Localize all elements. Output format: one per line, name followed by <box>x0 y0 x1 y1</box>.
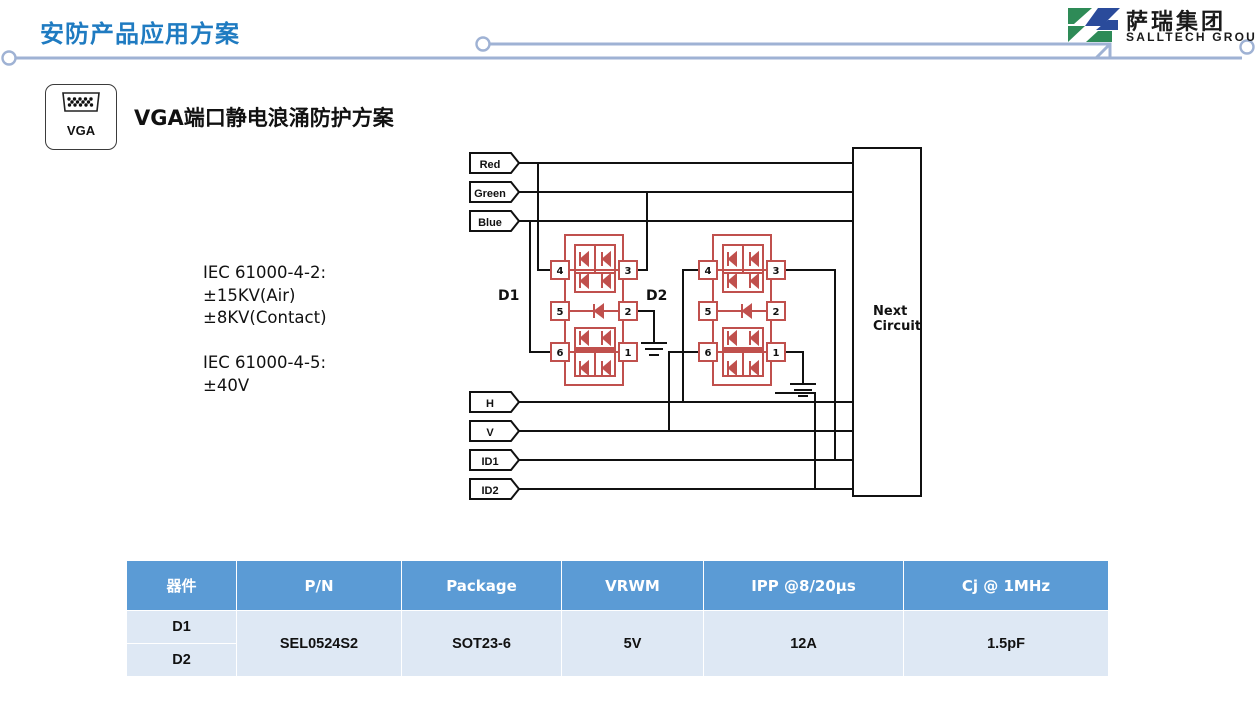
device-ref-label: D1 <box>498 288 519 304</box>
cell-pn: SEL0524S2 <box>237 611 402 677</box>
signal-label: Red <box>480 159 501 171</box>
signal-tag-h: H <box>470 392 519 412</box>
pin-label: 2 <box>625 307 632 318</box>
pin-label: 4 <box>705 266 712 277</box>
signal-tag-red: Red <box>470 153 519 173</box>
salltech-logo-mark <box>1068 8 1120 42</box>
pin-label: 6 <box>557 348 564 359</box>
pin-label: 2 <box>773 307 780 318</box>
pin-label: 3 <box>773 266 780 277</box>
signal-label: Blue <box>478 217 502 229</box>
pin-label: 5 <box>705 307 712 318</box>
signal-label: ID1 <box>481 456 498 468</box>
signal-tag-v: V <box>470 421 519 441</box>
next-circuit-label-2: Circuit <box>873 319 921 334</box>
signal-tag-id1: ID1 <box>470 450 519 470</box>
cell-package: SOT23-6 <box>402 611 562 677</box>
cell-cj: 1.5pF <box>904 611 1109 677</box>
logo-brand-en: SALLTECH GROUP <box>1126 30 1256 44</box>
device-spec-table: 器件 P/N Package VRWM IPP @8/20μs Cj @ 1MH… <box>126 560 1109 677</box>
signal-label: Green <box>474 188 506 200</box>
device-d2: D2 <box>646 235 785 385</box>
signal-label: V <box>486 427 494 439</box>
pin-label: 3 <box>625 266 632 277</box>
signal-tag-blue: Blue <box>470 211 519 231</box>
column-header-ipp: IPP @8/20μs <box>704 561 904 611</box>
signal-tags-top: Red Green Blue <box>470 153 519 231</box>
signal-label: H <box>486 398 494 410</box>
column-header-pn: P/N <box>237 561 402 611</box>
device-d1: D1 <box>498 235 637 385</box>
signal-label: ID2 <box>481 485 498 497</box>
brand-logo: 萨瑞集团 SALLTECH GROUP <box>1068 6 1254 50</box>
vga-connector-badge: VGA <box>45 84 117 150</box>
cell-device-d1: D1 <box>127 611 237 644</box>
signal-tag-green: Green <box>470 182 519 202</box>
cell-device-d2: D2 <box>127 644 237 677</box>
column-header-device: 器件 <box>127 561 237 611</box>
signal-tags-bottom: H V ID1 ID2 <box>470 392 519 499</box>
column-header-package: Package <box>402 561 562 611</box>
pin-label: 6 <box>705 348 712 359</box>
vga-protection-schematic: Next Circuit Red Green Blue H V ID1 <box>455 140 945 515</box>
cell-ipp: 12A <box>704 611 904 677</box>
pin-label: 4 <box>557 266 564 277</box>
pin-label: 1 <box>625 348 632 359</box>
section-title: VGA端口静电浪涌防护方案 <box>134 102 394 132</box>
device-ref-label: D2 <box>646 288 667 304</box>
table-header-row: 器件 P/N Package VRWM IPP @8/20μs Cj @ 1MH… <box>127 561 1109 611</box>
signal-tag-id2: ID2 <box>470 479 519 499</box>
vga-badge-label: VGA <box>46 123 116 138</box>
table-row: D1 SEL0524S2 SOT23-6 5V 12A 1.5pF <box>127 611 1109 644</box>
schematic-wires <box>517 163 853 489</box>
column-header-cj: Cj @ 1MHz <box>904 561 1109 611</box>
column-header-vrwm: VRWM <box>562 561 704 611</box>
vga-connector-icon <box>46 85 116 119</box>
iec-spec-notes: IEC 61000-4-2: ±15KV(Air) ±8KV(Contact) … <box>203 262 327 397</box>
pin-label: 1 <box>773 348 780 359</box>
pin-label: 5 <box>557 307 564 318</box>
cell-vrwm: 5V <box>562 611 704 677</box>
next-circuit-block: Next Circuit <box>853 148 921 496</box>
next-circuit-label-1: Next <box>873 304 907 319</box>
